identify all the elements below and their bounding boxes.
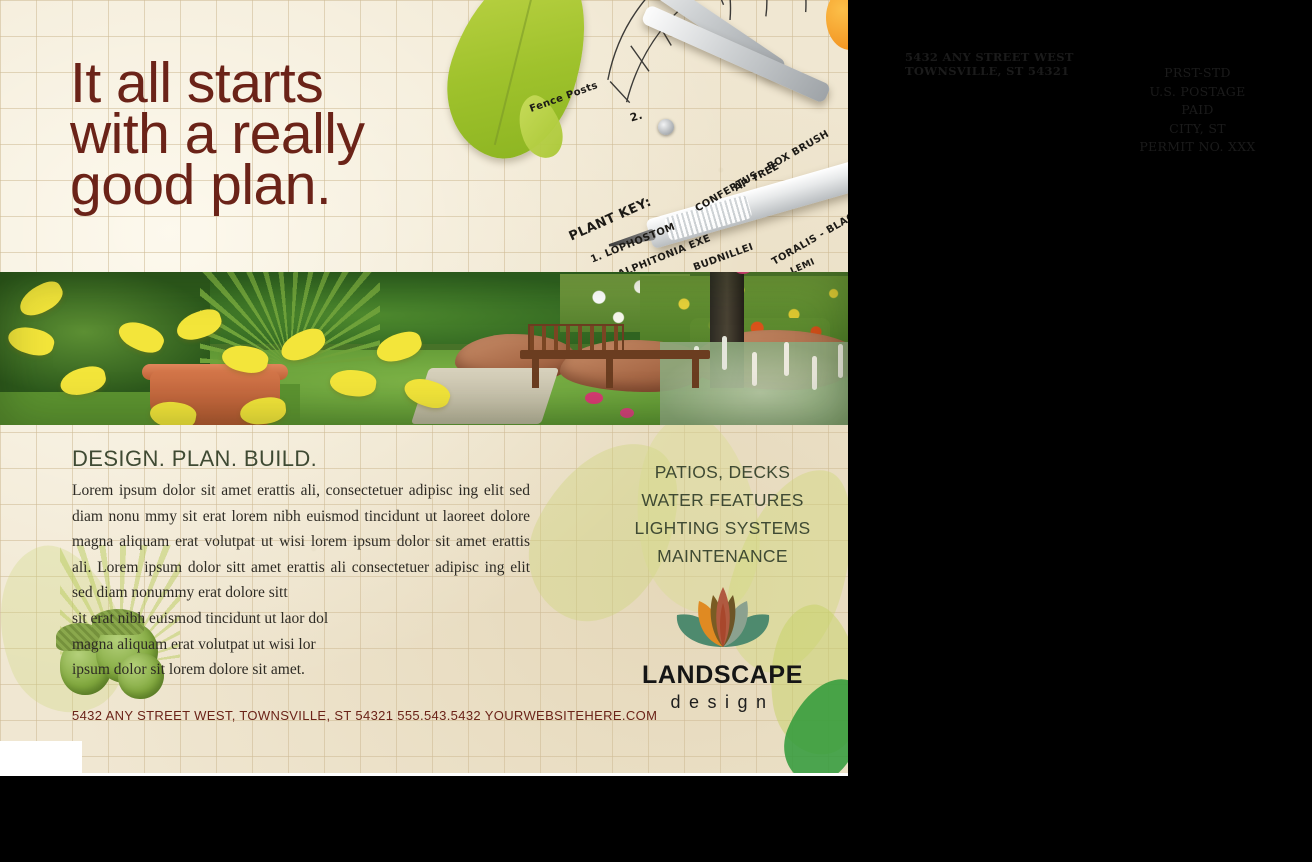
indicia-line-permit: PERMIT NO. XXX xyxy=(1120,138,1275,157)
service-item-water-features: WATER FEATURES xyxy=(585,486,848,514)
indicia-line-us-postage: U.S. POSTAGE xyxy=(1120,83,1275,102)
body-title: DESIGN. PLAN. BUILD. xyxy=(72,446,317,472)
return-address-line-2: TOWNSVILLE, ST 54321 xyxy=(905,65,1074,79)
card-bottom-edge xyxy=(0,773,848,776)
hero-headline: It all starts with a really good plan. xyxy=(70,58,540,211)
service-item-patios-decks: PATIOS, DECKS xyxy=(585,458,848,486)
postcard-front: Fence Posts 2. PLANT KEY: 1. LOPHOSTOM C… xyxy=(0,0,848,773)
body-paragraph-justified: Lorem ipsum dolor sit amet erattis ali, … xyxy=(72,478,530,606)
body-paragraph-line-3: ipsum dolor sit lorem dolore sit amet. xyxy=(72,657,530,683)
contact-line: 5432 ANY STREET WEST, TOWNSVILLE, ST 543… xyxy=(72,708,657,723)
brand-name: LANDSCAPE xyxy=(585,661,848,690)
body-paragraph-line-2: magna aliquam erat volutpat ut wisi lor xyxy=(72,632,530,658)
indicia-line-paid: PAID xyxy=(1120,101,1275,120)
compass-pivot-icon xyxy=(658,119,674,135)
lotus-flower-icon xyxy=(673,585,773,651)
photo-vignette xyxy=(0,272,848,425)
services-list: PATIOS, DECKS WATER FEATURES LIGHTING SY… xyxy=(585,458,848,570)
indicia-line-city-st: CITY, ST xyxy=(1120,120,1275,139)
handwritten-note-lemi: LEMI xyxy=(789,257,817,272)
hero-section: Fence Posts 2. PLANT KEY: 1. LOPHOSTOM C… xyxy=(0,0,848,272)
service-item-lighting-systems: LIGHTING SYSTEMS xyxy=(585,514,848,542)
body-copy: Lorem ipsum dolor sit amet erattis ali, … xyxy=(72,478,530,683)
return-address-line-1: 5432 ANY STREET WEST xyxy=(905,51,1074,65)
garden-photo-band xyxy=(0,272,848,425)
card-bottom-white-corner xyxy=(0,741,82,773)
hero-headline-line-3: good plan. xyxy=(70,160,540,211)
indicia-line-prst-std: PRST-STD xyxy=(1120,64,1275,83)
return-address-block: 5432 ANY STREET WEST TOWNSVILLE, ST 5432… xyxy=(905,51,1074,78)
screenshot-canvas: Fence Posts 2. PLANT KEY: 1. LOPHOSTOM C… xyxy=(0,0,1312,862)
brand-logo: LANDSCAPE design xyxy=(585,585,848,713)
service-item-maintenance: MAINTENANCE xyxy=(585,542,848,570)
body-paragraph-line-1: sit erat nibh euismod tincidunt ut laor … xyxy=(72,606,530,632)
postage-indicia-block: PRST-STD U.S. POSTAGE PAID CITY, ST PERM… xyxy=(1120,64,1275,157)
